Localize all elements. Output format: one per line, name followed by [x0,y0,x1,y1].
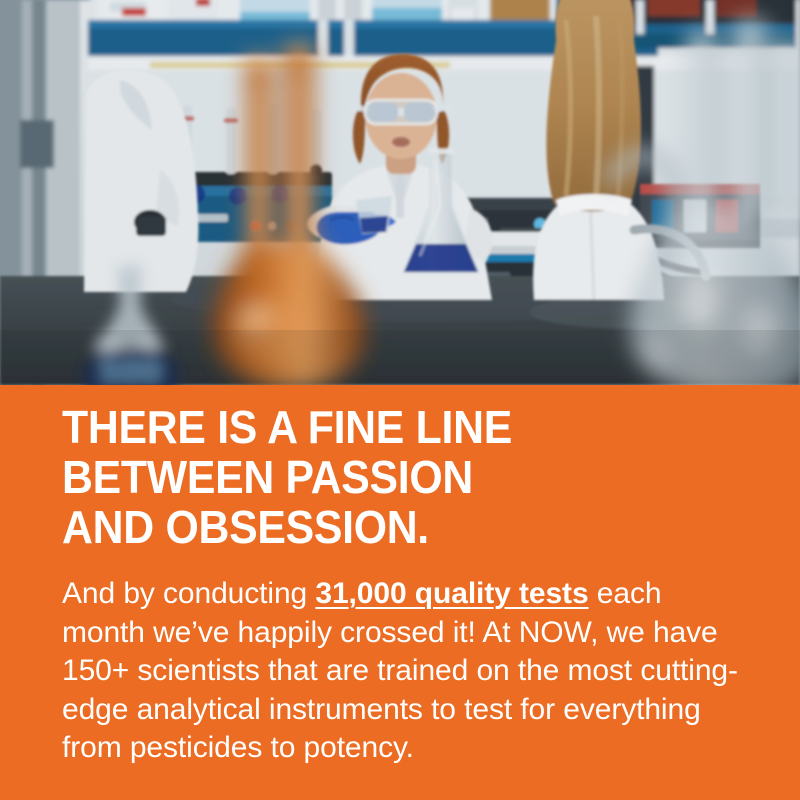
quality-tests-emphasis: 31,000 quality tests [315,577,588,610]
page-title: THERE IS A FINE LINE BETWEEN PASSION AND… [62,402,713,552]
body-paragraph: And by conducting 31,000 quality tests e… [62,575,742,768]
laboratory-photo: 500 [0,0,800,385]
orange-message-panel: THERE IS A FINE LINE BETWEEN PASSION AND… [0,385,800,800]
body-text-part-1: And by conducting [62,577,315,610]
laboratory-photo-illustration: 500 [0,0,800,385]
promotional-banner: 500 THERE IS A FINE LINE BETWE [0,0,800,800]
